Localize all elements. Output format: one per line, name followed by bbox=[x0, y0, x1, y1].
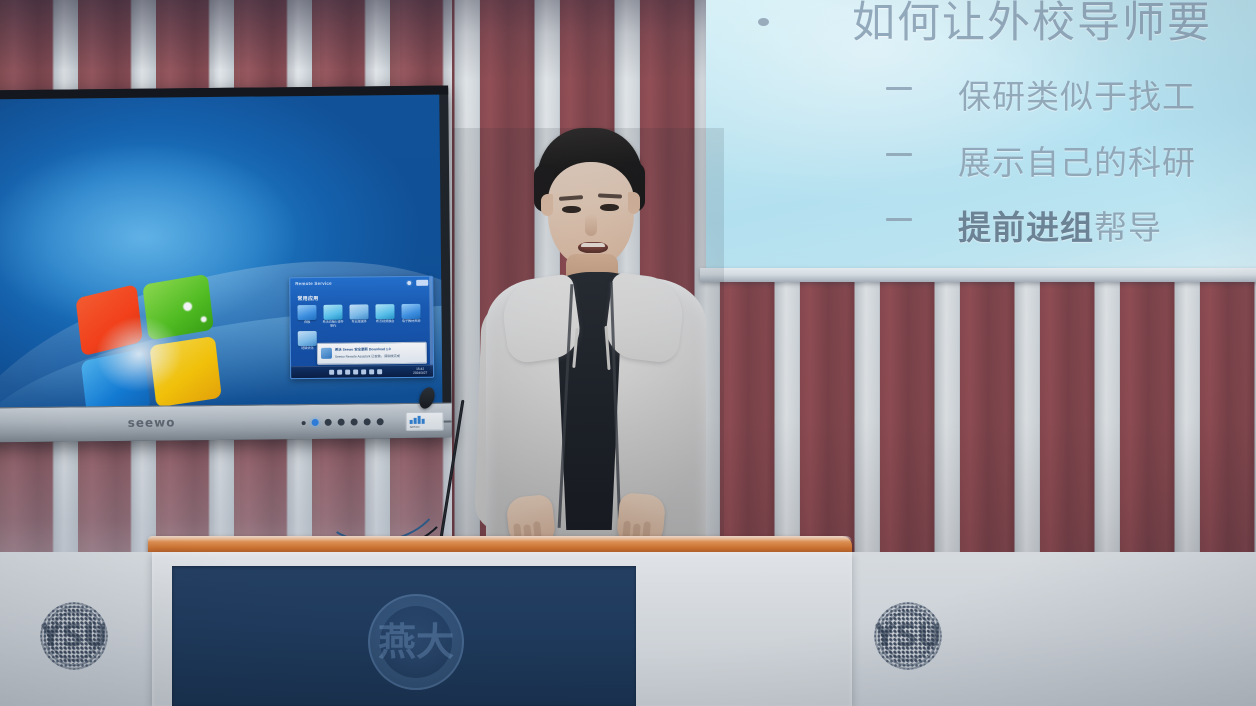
perforated-logo-icon: YSU bbox=[26, 588, 122, 684]
windows-pane-yellow bbox=[149, 336, 221, 407]
presenter-teeth bbox=[581, 243, 605, 247]
screen-bottom-trim bbox=[700, 268, 1256, 282]
panel-app-item[interactable]: 希沃白板5 课件制作 bbox=[321, 305, 344, 328]
panel-app-label: 班级优化 bbox=[296, 347, 319, 351]
tooltip-line-1: 希沃 Seewo 安全更新 Download 1.0 bbox=[335, 346, 391, 352]
slide-sub-item-1: 保研类似于找工 bbox=[958, 70, 1196, 118]
panel-app-item[interactable]: 希沃视频展台 bbox=[373, 304, 396, 327]
projection-screen: 如何让外校导师要 保研类似于找工 展示自己的科研 提前进组帮导 bbox=[706, 0, 1256, 272]
screen-icon bbox=[375, 304, 394, 319]
volume-down-button[interactable] bbox=[364, 418, 371, 425]
presenter-eye-left bbox=[562, 206, 581, 213]
windows-pane-green bbox=[142, 274, 214, 341]
power-indicator-icon bbox=[302, 421, 306, 425]
home-button[interactable] bbox=[377, 418, 384, 425]
source-button[interactable] bbox=[325, 419, 332, 426]
panel-app-label: 白板 bbox=[296, 321, 319, 325]
taskbar-clock[interactable]: 15:42 2024/3/27 bbox=[409, 367, 431, 376]
bullet-dot-icon bbox=[758, 18, 769, 26]
perforated-logo-glyph: YSU bbox=[860, 588, 956, 684]
media-icon[interactable] bbox=[345, 370, 350, 375]
panel-app-label: 希沃白板5 课件制作 bbox=[322, 321, 345, 328]
university-seal-icon: 燕大 bbox=[368, 594, 464, 690]
panel-app-item[interactable]: 班级优化 bbox=[296, 331, 319, 351]
perforated-logo-glyph: YSU bbox=[26, 588, 122, 684]
folder-icon[interactable] bbox=[337, 370, 342, 375]
slide-sub-item-2: 展示自己的科研 bbox=[958, 136, 1196, 184]
panel-section-label: 常用应用 bbox=[297, 295, 318, 302]
tooltip-line-2: Seewo Remote Assistant 已安装，请稍候完成 bbox=[335, 353, 400, 359]
network-icon[interactable] bbox=[377, 369, 382, 374]
monitor-icon bbox=[297, 305, 316, 320]
lecture-hall-scene: 如何让外校导师要 保研类似于找工 展示自己的科研 提前进组帮导 bbox=[0, 0, 1256, 706]
notification-tooltip[interactable]: 希沃 Seewo 安全更新 Download 1.0 Seewo Remote … bbox=[317, 342, 427, 365]
ppt-icon bbox=[349, 304, 368, 319]
smart-board[interactable]: Remote Service 常用应用 白板 希沃白板5 课件制作 bbox=[0, 86, 452, 443]
countertop-highlight bbox=[148, 536, 852, 542]
logo-bars-icon bbox=[410, 416, 425, 424]
panel-app-item[interactable]: 白板 bbox=[295, 305, 318, 328]
taskbar[interactable]: 15:42 2024/3/27 bbox=[291, 365, 433, 378]
smart-board-bottom-bezel: seewo seewo bbox=[0, 403, 452, 443]
slide-dash-icon-3 bbox=[886, 218, 912, 221]
presenter-ear-left bbox=[541, 194, 553, 216]
presenter bbox=[452, 128, 724, 548]
shield-icon bbox=[321, 348, 332, 359]
menu-button[interactable] bbox=[338, 419, 345, 426]
vertical-scrollbar[interactable] bbox=[429, 277, 433, 377]
smart-board-screen[interactable]: Remote Service 常用应用 白板 希沃白板5 课件制作 bbox=[0, 95, 442, 409]
panel-app-item[interactable]: 专业版课件 bbox=[347, 304, 370, 327]
slide-sub-item-3-rest: 帮导 bbox=[1094, 209, 1162, 246]
logo-caption: seewo bbox=[410, 425, 420, 429]
slide-sub-item-3-bold: 提前进组 bbox=[958, 209, 1094, 246]
podium-side-panel-right: YSU bbox=[852, 552, 1256, 706]
panel-close-badge[interactable] bbox=[416, 280, 428, 286]
panel-app-item[interactable]: 电子教材资源 bbox=[399, 304, 422, 327]
printer-icon bbox=[298, 331, 317, 346]
slide-dash-icon-1 bbox=[886, 87, 912, 90]
smart-board-side-logo: seewo bbox=[406, 412, 444, 431]
podium-front-panel: 燕大 bbox=[172, 566, 636, 706]
university-seal-glyph: 燕大 bbox=[368, 594, 464, 690]
podium-side-panel-left: YSU bbox=[0, 552, 152, 706]
ie-icon[interactable] bbox=[329, 370, 334, 375]
panel-app-label: 电子教材资源 bbox=[400, 320, 423, 324]
presenter-ear-right bbox=[628, 192, 640, 214]
slide-dash-icon-2 bbox=[886, 153, 912, 156]
input-icon[interactable] bbox=[361, 369, 366, 374]
volume-icon[interactable] bbox=[369, 369, 374, 374]
gear-icon[interactable] bbox=[406, 280, 412, 286]
folder-icon bbox=[323, 305, 342, 320]
smart-board-brand-label: seewo bbox=[128, 415, 176, 429]
slide-sub-item-3: 提前进组帮导 bbox=[958, 201, 1162, 249]
en-icon bbox=[401, 304, 420, 319]
presenter-eye-right bbox=[600, 204, 619, 211]
perforated-logo-icon: YSU bbox=[860, 588, 956, 684]
windows-pane-red bbox=[75, 284, 142, 356]
clock-date: 2024/3/27 bbox=[409, 371, 431, 376]
presenter-nose bbox=[585, 214, 597, 236]
slide-title: 如何让外校导师要 bbox=[852, 0, 1212, 50]
panel-app-label: 希沃视频展台 bbox=[374, 320, 397, 324]
volume-up-button[interactable] bbox=[351, 419, 358, 426]
windows-pane-blue bbox=[81, 349, 151, 409]
power-button[interactable] bbox=[312, 419, 319, 426]
panel-app-label: 专业版课件 bbox=[348, 320, 371, 324]
remote-service-title: Remote Service bbox=[295, 281, 332, 286]
chat-icon[interactable] bbox=[353, 369, 358, 374]
remote-service-panel[interactable]: Remote Service 常用应用 白板 希沃白板5 课件制作 bbox=[289, 276, 434, 380]
windows-flag-icon bbox=[73, 275, 228, 408]
